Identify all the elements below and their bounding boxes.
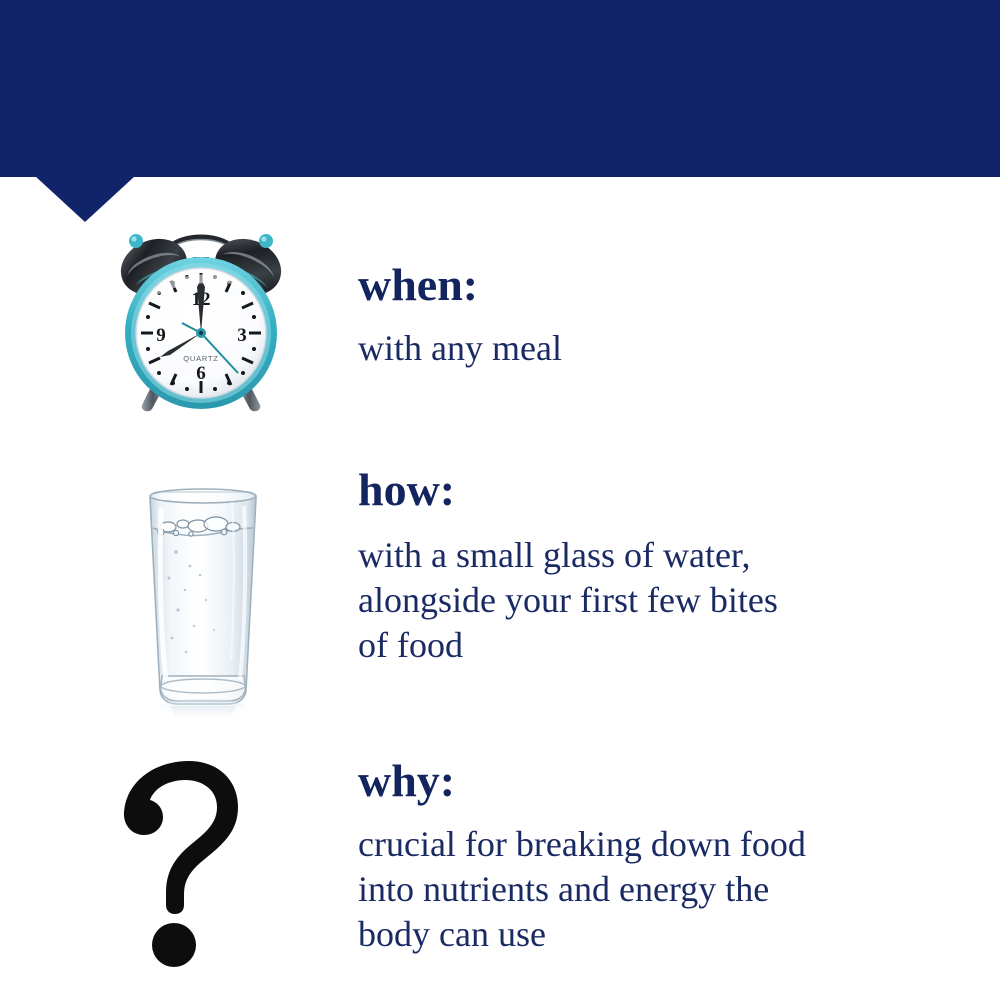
body-line: with a small glass of water, [358, 533, 778, 578]
body-line: with any meal [358, 326, 562, 371]
svg-text:QUARTZ: QUARTZ [183, 354, 219, 363]
section-why-body: crucial for breaking down food into nutr… [358, 822, 806, 957]
body-line: into nutrients and energy the [358, 867, 806, 912]
svg-text:3: 3 [237, 325, 247, 346]
water-glass-icon [128, 480, 278, 730]
section-why-text: why: crucial for breaking down food into… [358, 756, 806, 957]
section-how-title: how: [358, 465, 778, 515]
section-when-title: when: [358, 260, 562, 310]
section-when-text: when: with any meal [358, 260, 562, 371]
body-line: body can use [358, 912, 806, 957]
question-mark-icon [112, 755, 262, 975]
body-line: alongside your first few bites [358, 578, 778, 623]
section-how-text: how: with a small glass of water, alongs… [358, 465, 778, 668]
banner-speech-tail [35, 176, 135, 222]
svg-text:9: 9 [156, 325, 166, 346]
svg-text:6: 6 [196, 363, 206, 384]
section-when-body: with any meal [358, 326, 562, 371]
section-how-body: with a small glass of water, alongside y… [358, 533, 778, 668]
header-banner [0, 0, 1000, 177]
alarm-clock-icon: 12 3 6 9 QUARTZ [96, 205, 306, 420]
section-why-title: why: [358, 756, 806, 806]
body-line: crucial for breaking down food [358, 822, 806, 867]
body-line: of food [358, 623, 778, 668]
